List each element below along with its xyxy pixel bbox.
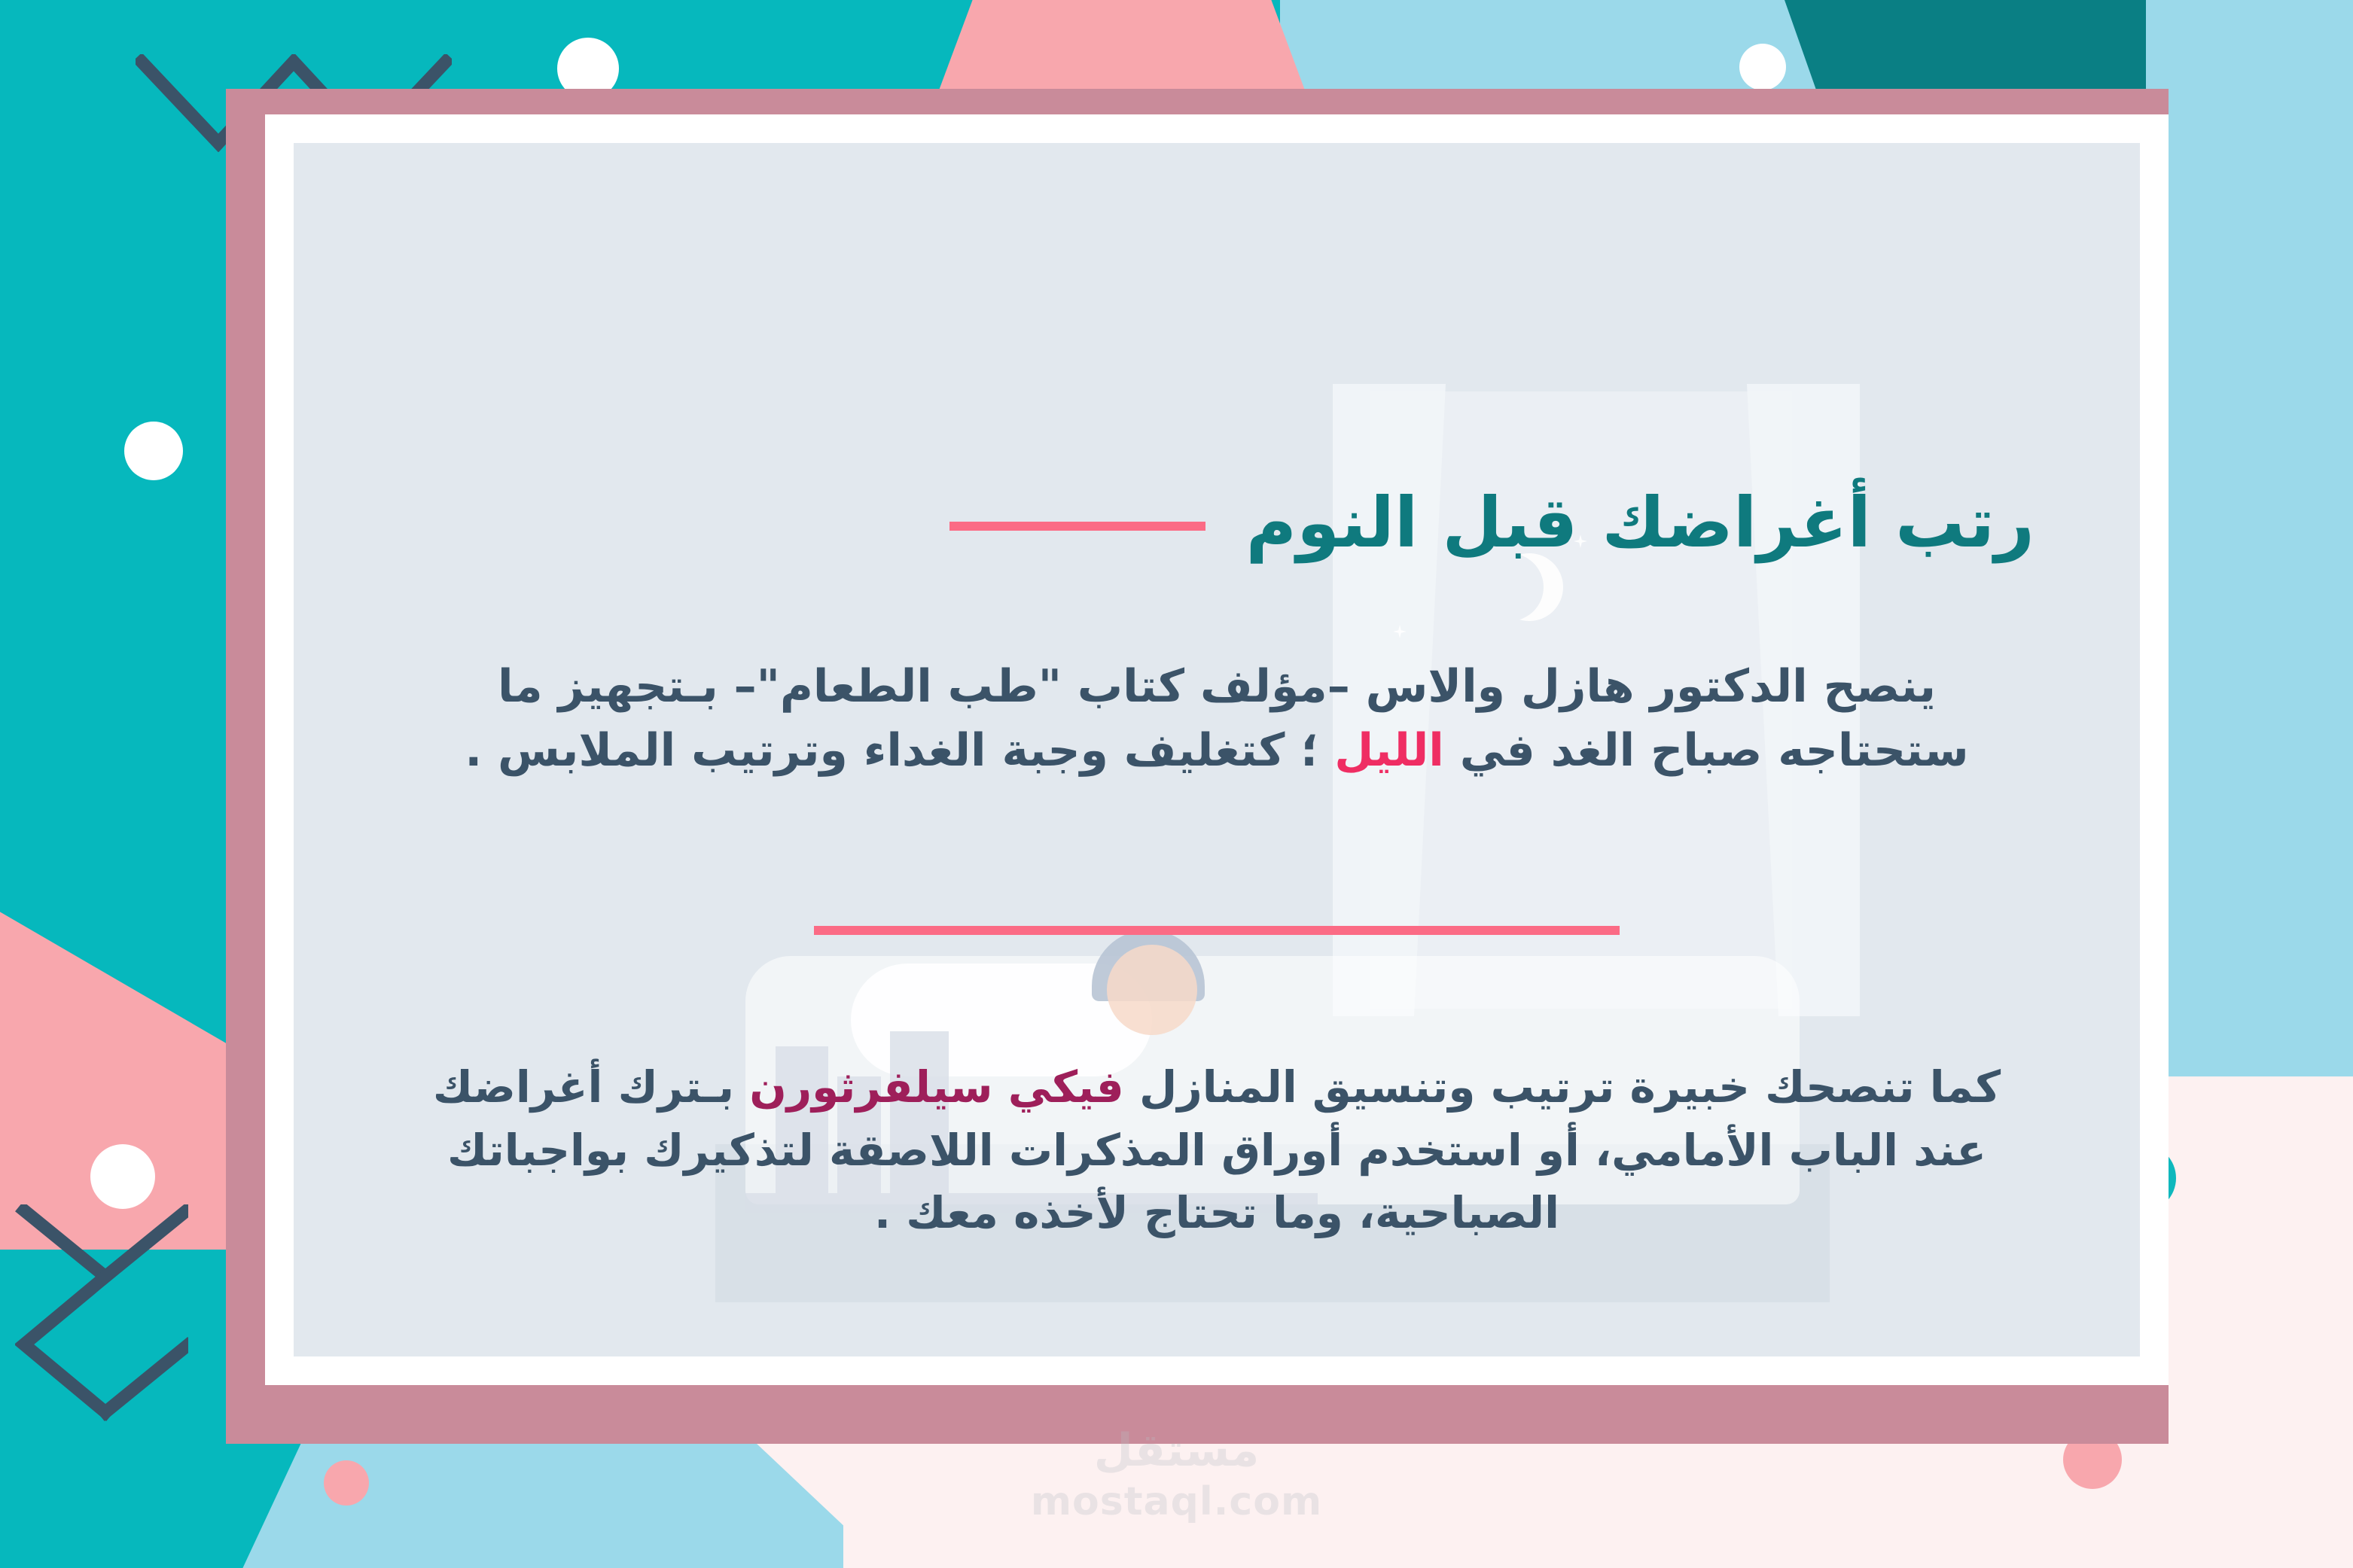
watermark: مستقل mostaql.com [1031, 1428, 1322, 1521]
zigzag-bottom-left-icon [15, 1204, 188, 1430]
paragraph-one-part-2: ؛ كتغليف وجبة الغداء وترتيب الملابس . [465, 724, 1334, 777]
poster-canvas: رتب أغراضك قبل النوم ينصح الدكتور هازل و… [0, 0, 2353, 1568]
title-accent-rule [949, 522, 1205, 531]
paragraph-one-highlight: الليل [1334, 724, 1444, 777]
page-title: رتب أغراضك قبل النوم [1246, 485, 2034, 561]
decor-dot-white-3 [124, 422, 183, 480]
paragraph-two: كما تنصحك خبيرة ترتيب وتنسيق المنازل فيك… [407, 1056, 2027, 1245]
paragraph-two-highlight: فيكي سيلفرثورن [749, 1061, 1124, 1113]
watermark-domain: mostaql.com [1031, 1482, 1322, 1521]
watermark-arabic-logo: مستقل [1031, 1428, 1322, 1473]
paragraph-two-part-1: كما تنصحك خبيرة ترتيب وتنسيق المنازل [1124, 1061, 2001, 1113]
decor-dot-white-2 [1739, 44, 1786, 90]
content-card: رتب أغراضك قبل النوم ينصح الدكتور هازل و… [294, 143, 2140, 1356]
title-row: رتب أغراضك قبل النوم [399, 438, 2034, 607]
decor-dot-white-4 [90, 1144, 155, 1209]
section-divider-rule [814, 926, 1620, 935]
decor-dot-pink-2 [324, 1460, 369, 1506]
paragraph-one: ينصح الدكتور هازل والاس –مؤلف كتاب "طب ا… [407, 655, 2027, 783]
card-content: رتب أغراضك قبل النوم ينصح الدكتور هازل و… [294, 143, 2140, 1356]
